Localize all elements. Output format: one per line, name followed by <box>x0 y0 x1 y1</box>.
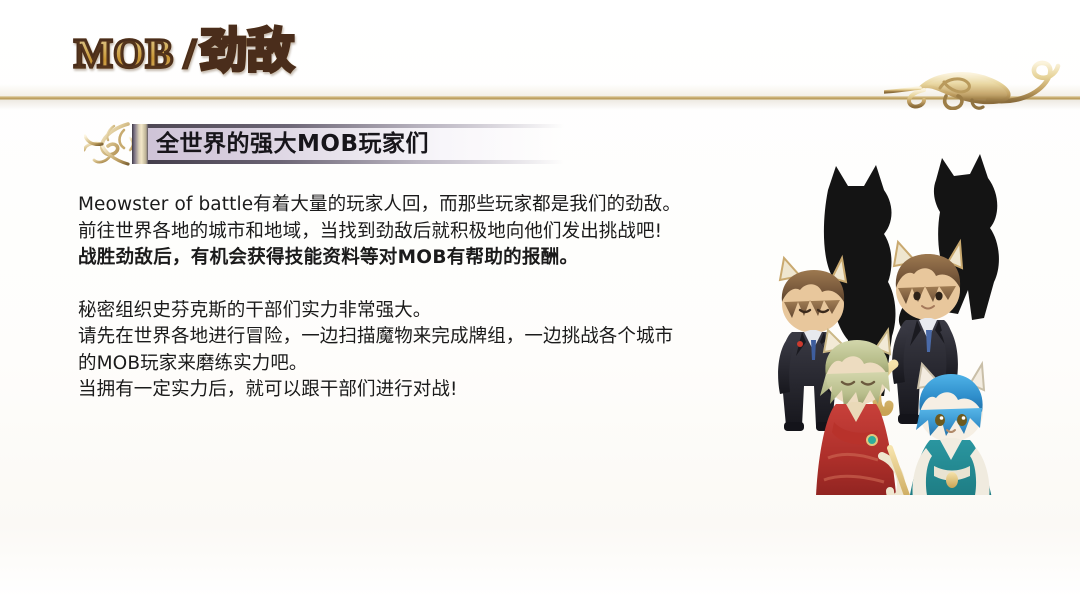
paragraph-2-line-1: 秘密组织史芬克斯的干部们实力非常强大。 <box>78 298 778 325</box>
section-heading-bar-cap <box>132 124 148 164</box>
paragraph-2-line-4: 当拥有一定实力后，就可以跟干部们进行对战! <box>78 377 778 404</box>
paragraph-2: 秘密组织史芬克斯的干部们实力非常强大。 请先在世界各地进行冒险，一边扫描魔物来完… <box>78 298 778 404</box>
page-header: MOB /劲敌 <box>0 0 1080 104</box>
figure-black-cat-back <box>905 154 999 326</box>
paragraph-2-line-3: 的MOB玩家来磨练实力吧。 <box>78 351 778 378</box>
paragraph-2-line-2: 请先在世界各地进行冒险，一边扫描魔物来完成牌组，一边挑战各个城市 <box>78 324 778 351</box>
body-copy: Meowster of battle有着大量的玩家人回，而那些玩家都是我们的劲敌… <box>78 192 778 404</box>
paragraph-1-line-1: Meowster of battle有着大量的玩家人回，而那些玩家都是我们的劲敌… <box>78 192 778 219</box>
page-title-latin: MOB / <box>74 30 196 76</box>
page-title: MOB /劲敌 <box>74 28 294 75</box>
figure-black-cat-front <box>824 165 896 396</box>
paragraph-1-line-2: 前往世界各地的城市和地域，当找到劲敌后就积极地向他们发出挑战吧! <box>78 219 778 246</box>
page-title-cjk: 劲敌 <box>200 24 294 79</box>
header-rule-shadow <box>0 100 1080 110</box>
figure-brown-cat-suit-right <box>877 242 962 424</box>
figure-blue-hair-teal-robe <box>906 364 996 495</box>
page-canvas: MOB /劲敌 <box>0 0 1080 598</box>
section-heading: 全世界的强大MOB玩家们 <box>84 124 564 164</box>
figure-brown-cat-suit-left <box>778 258 851 431</box>
figure-green-hair-red-robe <box>816 330 910 495</box>
paragraph-1: Meowster of battle有着大量的玩家人回，而那些玩家都是我们的劲敌… <box>78 192 778 272</box>
paragraph-1-line-3: 战胜劲敌后，有机会获得技能资料等对MOB有帮助的报酬。 <box>78 245 778 272</box>
section-title: 全世界的强大MOB玩家们 <box>156 124 429 164</box>
header-rule-glow <box>0 84 1080 96</box>
character-artwork <box>760 150 1080 495</box>
